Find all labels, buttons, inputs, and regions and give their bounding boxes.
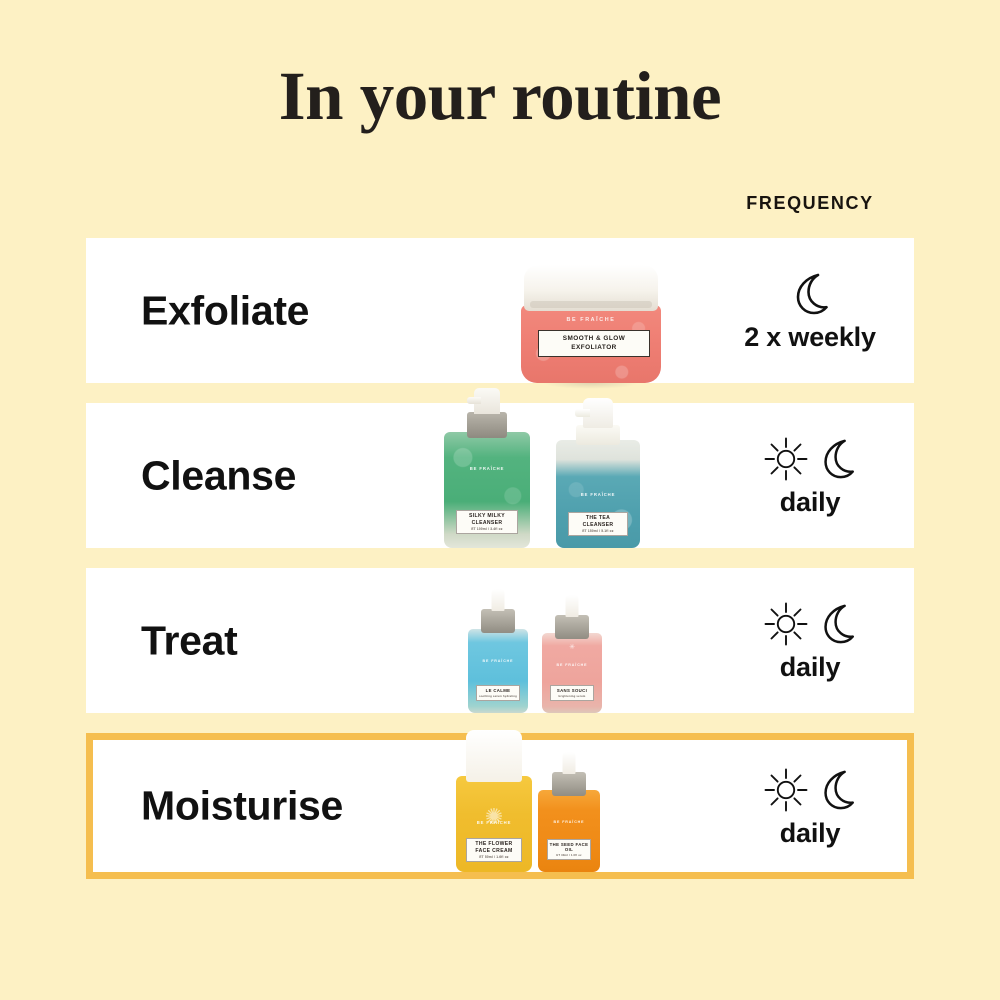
step-label: Moisturise xyxy=(141,783,343,830)
step-label: Exfoliate xyxy=(141,287,309,334)
product-smooth-glow-exfoliator: BE FRAÎCHE SMOOTH & GLOW EXFOLIATOR xyxy=(521,265,661,383)
dropper-collar xyxy=(555,615,589,639)
frequency-column-header: FREQUENCY xyxy=(706,193,914,214)
routine-infographic: In your routine FREQUENCY Exfoliate BE F… xyxy=(0,0,1000,1000)
product-name: THE SEED FACE OIL xyxy=(549,842,589,853)
product-name-label: THE TEA CLEANSER ET 150ml / 5.1fl oz xyxy=(568,512,628,536)
product-size: ET 30ml / 1.0fl oz xyxy=(549,854,589,857)
product-name: LE CALME xyxy=(478,688,518,693)
product-brand: BE FRAÎCHE xyxy=(468,659,528,663)
frequency-cell: 2 x weekly xyxy=(706,238,914,383)
product-brand: BE FRAÎCHE xyxy=(542,663,602,667)
frequency-icons xyxy=(788,268,832,320)
bottle-neck xyxy=(576,425,620,445)
moon-icon xyxy=(816,767,858,813)
frequency-cell: daily xyxy=(706,403,914,548)
frequency-label: daily xyxy=(780,487,841,518)
product-brand: BE FRAÎCHE xyxy=(444,466,530,471)
product-brand: BE FRAÎCHE xyxy=(456,820,532,825)
bottle-body: BE FRAÎCHE xyxy=(542,633,602,713)
frequency-label: daily xyxy=(780,818,841,849)
dropper-cap xyxy=(563,752,576,774)
product-sans-souci: BE FRAÎCHE SANS SOUCI brightening serum xyxy=(542,595,602,713)
product-name-label: THE FLOWER FACE CREAM ET 50ml / 1.6fl oz xyxy=(466,838,522,862)
product-the-tea-cleanser: BE FRAÎCHE THE TEA CLEANSER ET 150ml / 5… xyxy=(556,398,640,548)
frequency-cell: daily xyxy=(706,740,914,872)
product-image-group: BE FRAÎCHE LE CALME soothing serum hydra… xyxy=(416,568,716,713)
product-name-label: SMOOTH & GLOW EXFOLIATOR xyxy=(538,330,650,357)
product-le-calme: BE FRAÎCHE LE CALME soothing serum hydra… xyxy=(468,589,528,713)
moon-icon xyxy=(788,271,832,317)
product-the-flower-face-cream: BE FRAÎCHE THE FLOWER FACE CREAM ET 50ml… xyxy=(456,730,532,872)
sun-icon xyxy=(762,435,810,483)
product-brand: BE FRAÎCHE xyxy=(556,492,640,497)
moon-icon xyxy=(816,436,858,482)
frequency-label: 2 x weekly xyxy=(744,322,876,353)
frequency-icons xyxy=(762,598,858,650)
sun-icon xyxy=(762,766,810,814)
jar-body: BE FRAÎCHE SMOOTH & GLOW EXFOLIATOR xyxy=(521,305,661,383)
product-name: SILKY MILKY CLEANSER xyxy=(458,513,516,526)
dropper-cap xyxy=(566,595,579,617)
sun-icon xyxy=(762,600,810,648)
frequency-icons xyxy=(762,764,858,816)
frequency-label: daily xyxy=(780,652,841,683)
product-size: ET 50ml / 1.6fl oz xyxy=(468,855,520,859)
product-name-label: SILKY MILKY CLEANSER ET 100ml / 3.4fl oz xyxy=(456,510,518,534)
routine-row-exfoliate[interactable]: Exfoliate BE FRAÎCHE SMOOTH & GLOW EXFOL… xyxy=(86,238,914,383)
bottle-neck xyxy=(467,412,507,438)
dropper-cap xyxy=(492,589,505,611)
bottle-pump-cap xyxy=(583,398,613,428)
product-brand: BE FRAÎCHE xyxy=(521,317,661,323)
product-silky-milky-cleanser: BE FRAÎCHE SILKY MILKY CLEANSER ET 100ml… xyxy=(444,388,530,548)
product-name-label: SANS SOUCI brightening serum xyxy=(550,685,594,701)
jar-lid xyxy=(524,265,658,311)
step-label: Cleanse xyxy=(141,452,296,499)
frequency-cell: daily xyxy=(706,568,914,713)
product-size: ET 100ml / 3.4fl oz xyxy=(458,527,516,531)
page-title: In your routine xyxy=(0,62,1000,131)
product-image-group: BE FRAÎCHE SMOOTH & GLOW EXFOLIATOR xyxy=(416,238,716,383)
step-label: Treat xyxy=(141,617,238,664)
routine-step-list: Exfoliate BE FRAÎCHE SMOOTH & GLOW EXFOL… xyxy=(86,238,914,899)
frequency-icons xyxy=(762,433,858,485)
product-name-label: THE SEED FACE OIL ET 30ml / 1.0fl oz xyxy=(547,839,591,860)
routine-row-treat[interactable]: Treat BE FRAÎCHE LE CALME soothing serum… xyxy=(86,568,914,713)
routine-row-cleanse[interactable]: Cleanse BE FRAÎCHE SILKY MILKY CLEANSER … xyxy=(86,403,914,548)
product-name: THE TEA CLEANSER xyxy=(570,515,626,528)
product-name: THE FLOWER FACE CREAM xyxy=(468,841,520,854)
bottle-pump-cap xyxy=(474,388,500,414)
product-name-label: LE CALME soothing serum hydrating xyxy=(476,685,520,701)
dropper-collar xyxy=(481,609,515,633)
product-image-group: BE FRAÎCHE THE FLOWER FACE CREAM ET 50ml… xyxy=(416,740,716,872)
product-size: soothing serum hydrating xyxy=(478,695,518,698)
jar-lid xyxy=(466,730,522,782)
dropper-collar xyxy=(552,772,586,796)
product-size: brightening serum xyxy=(552,695,592,698)
product-size: ET 150ml / 5.1fl oz xyxy=(570,529,626,533)
product-image-group: BE FRAÎCHE SILKY MILKY CLEANSER ET 100ml… xyxy=(416,403,716,548)
routine-row-moisturise[interactable]: Moisturise BE FRAÎCHE THE FLOWER FACE CR… xyxy=(86,733,914,879)
product-brand: BE FRAÎCHE xyxy=(538,820,600,824)
moon-icon xyxy=(816,601,858,647)
product-the-seed-face-oil: BE FRAÎCHE THE SEED FACE OIL ET 30ml / 1… xyxy=(538,752,600,872)
product-name: SANS SOUCI xyxy=(552,688,592,693)
